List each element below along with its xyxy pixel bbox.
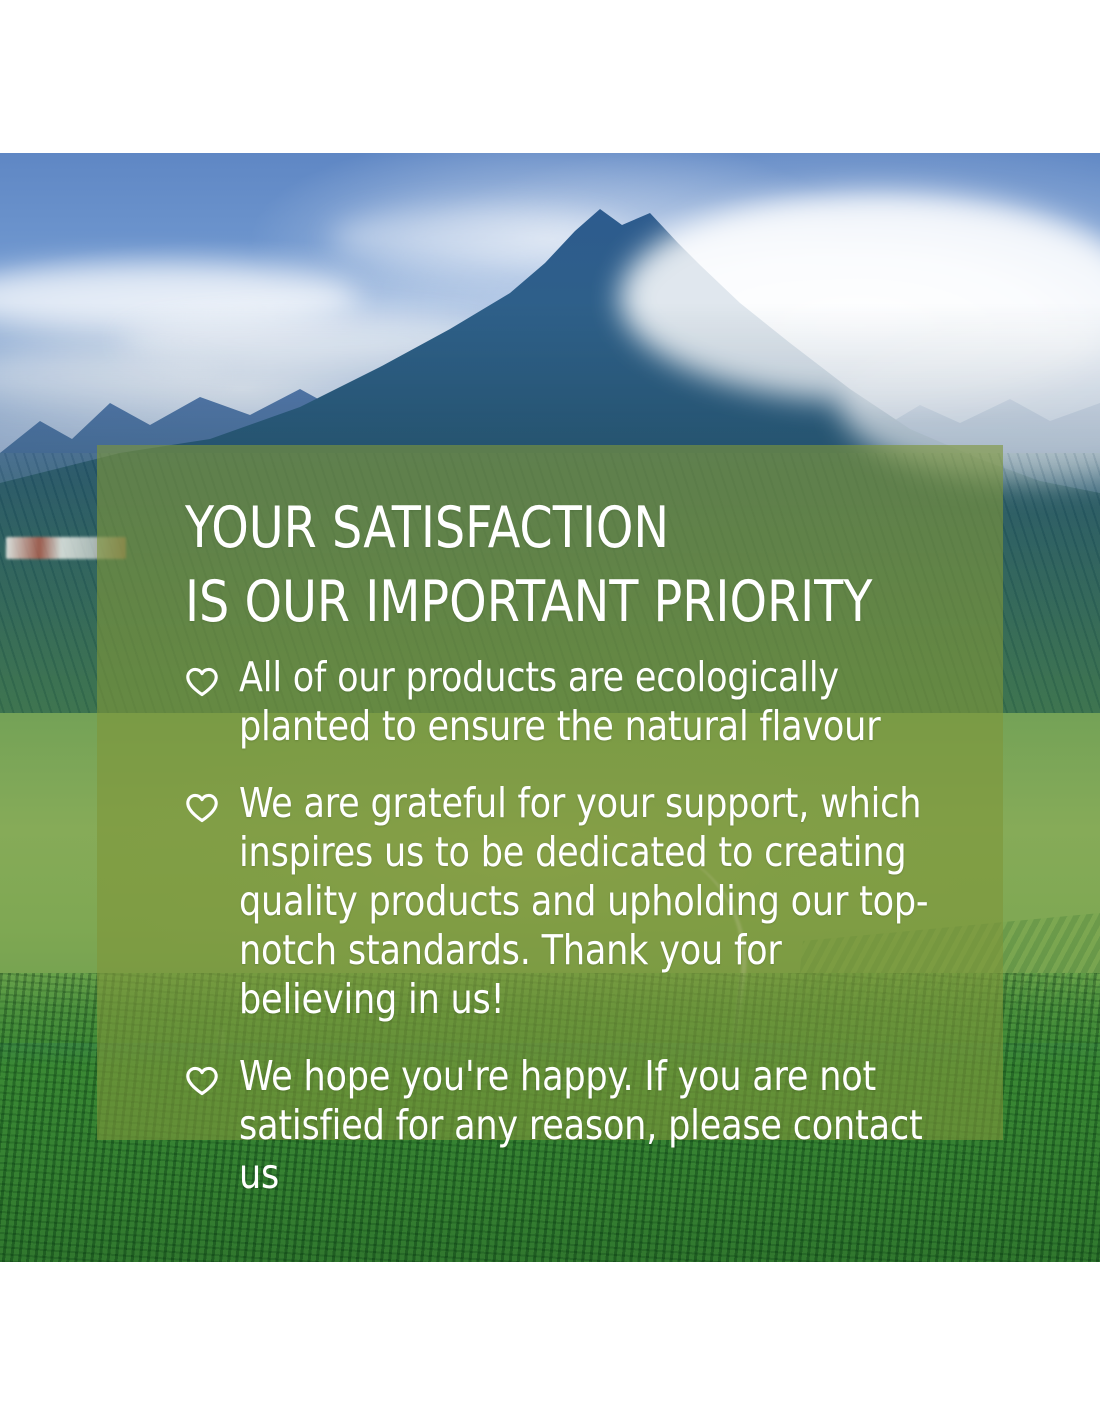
list-item: We are grateful for your support, which …: [185, 779, 983, 1024]
list-item: We hope you're happy. If you are not sat…: [185, 1052, 983, 1199]
list-item-text: We are grateful for your support, which …: [239, 779, 946, 1024]
bullet-list: All of our products are ecologically pla…: [185, 653, 1003, 1199]
list-item-text: We hope you're happy. If you are not sat…: [239, 1052, 946, 1199]
satisfaction-overlay-panel: YOUR SATISFACTION IS OUR IMPORTANT PRIOR…: [97, 445, 1003, 1140]
heart-outline-icon: [185, 1066, 227, 1096]
list-item-text: All of our products are ecologically pla…: [239, 653, 946, 751]
heading-line-1: YOUR SATISFACTION: [185, 491, 946, 565]
heart-outline-icon: [185, 793, 227, 823]
heading-line-2: IS OUR IMPORTANT PRIORITY: [185, 565, 946, 639]
heart-outline-icon: [185, 667, 227, 697]
list-item: All of our products are ecologically pla…: [185, 653, 983, 751]
page-canvas: YOUR SATISFACTION IS OUR IMPORTANT PRIOR…: [0, 0, 1100, 1422]
